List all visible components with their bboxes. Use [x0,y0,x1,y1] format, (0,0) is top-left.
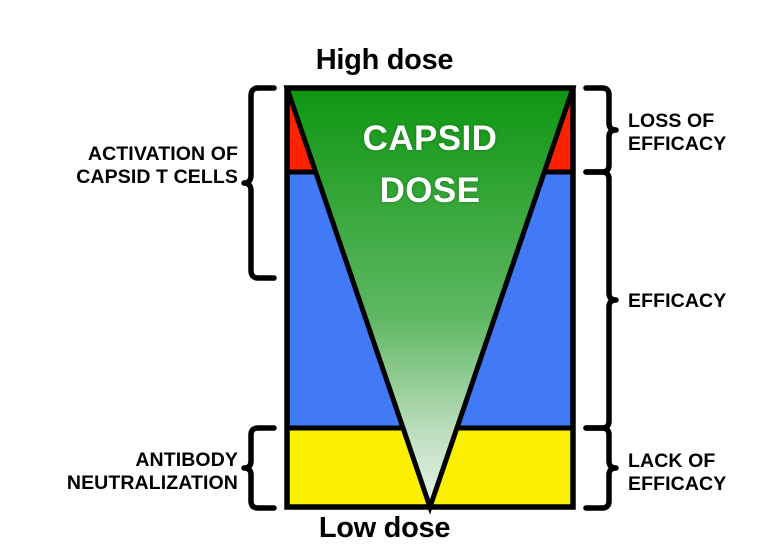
lack-label-line2: EFFICACY [628,473,726,495]
activation-label-line2: CAPSID T CELLS [76,166,238,188]
capsid-dose-label-line1: CAPSID [363,119,498,158]
brace-efficacy [586,172,616,428]
brace-activation-capsid-t-cells [244,88,274,278]
efficacy-label: EFFICACY [628,290,769,313]
activation-of-capsid-t-cells-label: ACTIVATION OFCAPSID T CELLS [0,143,238,188]
brace-loss-of-efficacy [586,88,616,172]
high-dose-label: High dose [0,44,769,78]
antibody-label-line1: ANTIBODY [135,449,238,471]
loss-label-line2: EFFICACY [628,133,726,155]
lack-of-efficacy-label: LACK OFEFFICACY [628,450,769,495]
low-dose-label: Low dose [0,512,769,546]
capsid-dose-label: CAPSIDDOSE [285,119,575,211]
left-braces [244,88,274,508]
activation-label-line1: ACTIVATION OF [88,143,238,165]
loss-of-efficacy-label: LOSS OFEFFICACY [628,110,769,155]
antibody-neutralization-label: ANTIBODYNEUTRALIZATION [0,449,238,494]
capsid-dose-label-line2: DOSE [285,171,575,212]
brace-antibody-neutralization [244,428,274,508]
diagram-canvas: High dose Low dose CAPSIDDOSE ACTIVATION… [0,0,769,556]
lack-label-line1: LACK OF [628,450,715,472]
brace-lack-of-efficacy [586,428,616,508]
loss-label-line1: LOSS OF [628,110,714,132]
right-braces [586,88,616,508]
antibody-label-line2: NEUTRALIZATION [67,472,238,494]
